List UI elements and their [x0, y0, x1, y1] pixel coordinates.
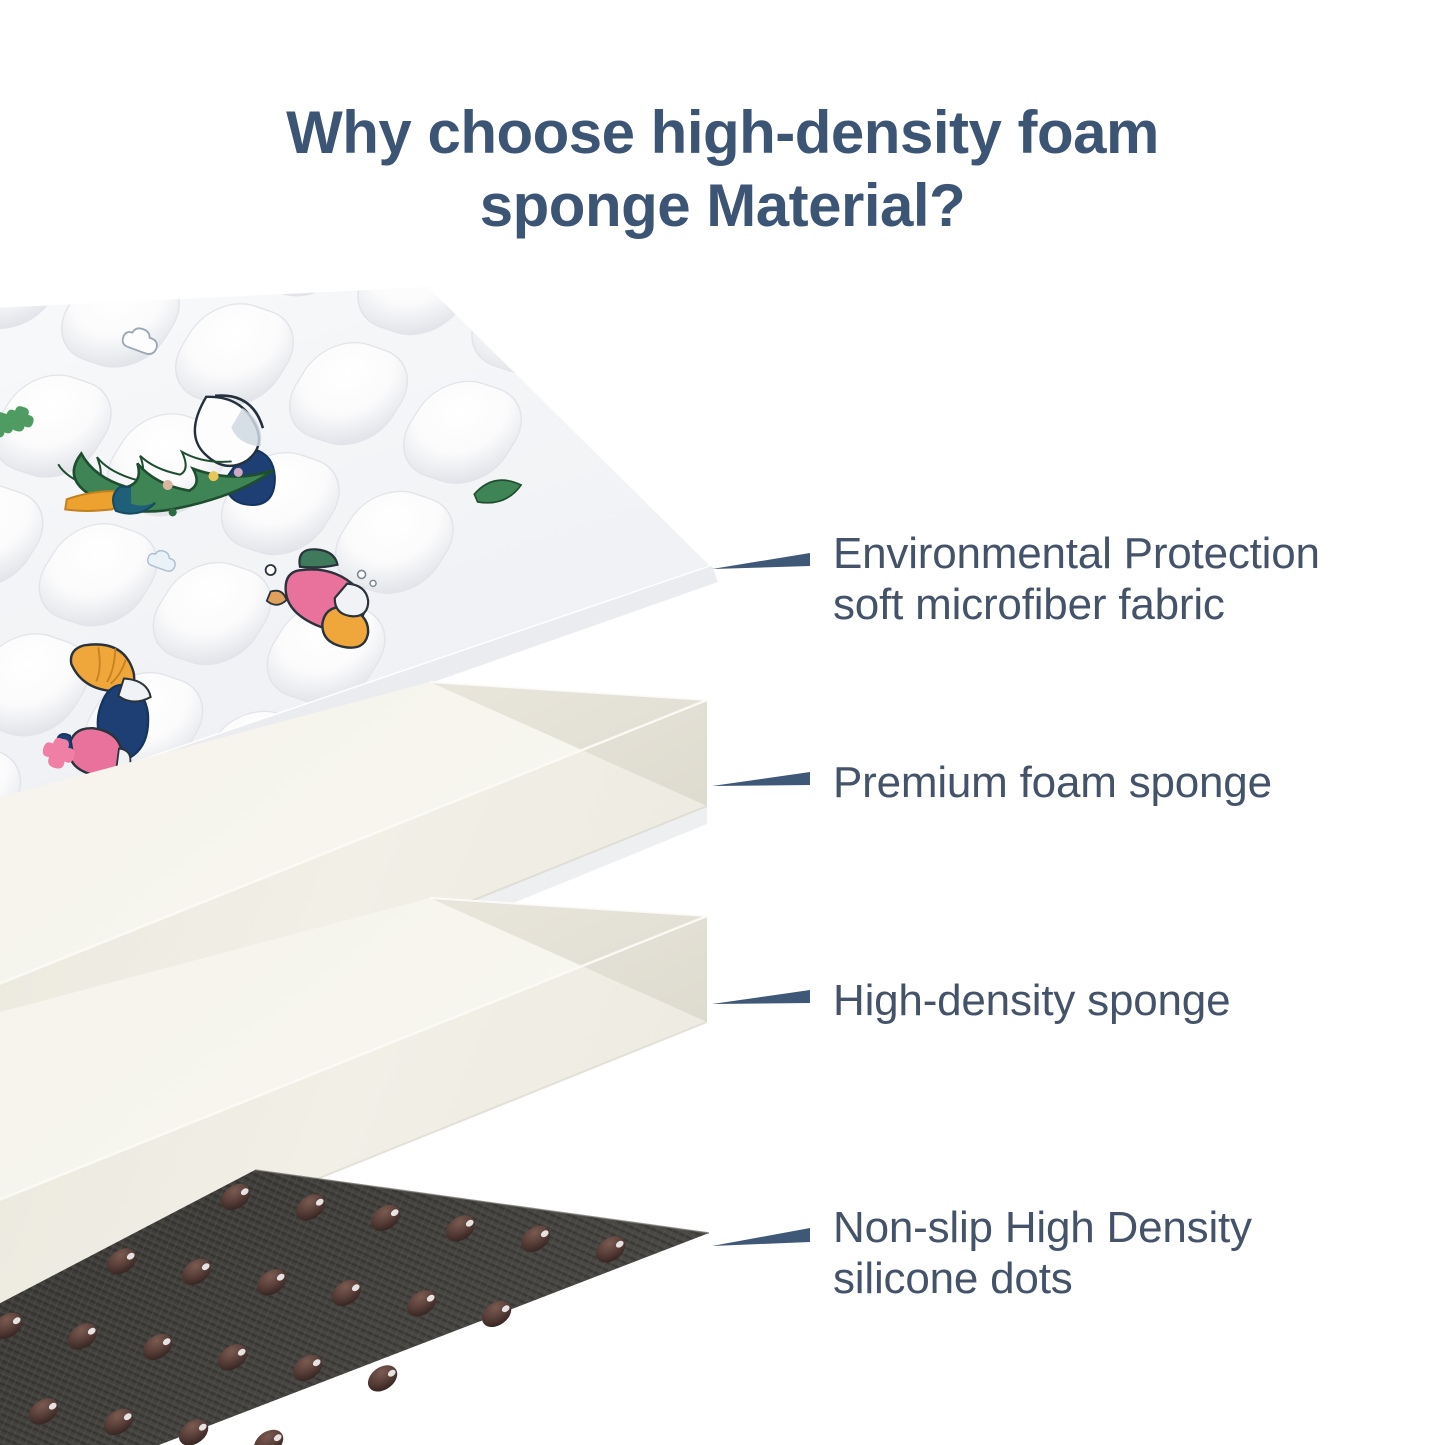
- callout-pointer-high-density-sponge: [712, 990, 810, 1004]
- callout-label-high-density-sponge: High-density sponge: [833, 975, 1230, 1026]
- callout-label-silicone-dots: Non-slip High Density silicone dots: [833, 1202, 1252, 1304]
- callout-label-premium-foam-sponge: Premium foam sponge: [833, 757, 1272, 808]
- callout-pointer-premium-foam-sponge: [712, 772, 810, 786]
- callout-label-microfiber-fabric: Environmental Protection soft microfiber…: [833, 528, 1320, 630]
- callout-pointer-microfiber-fabric: [712, 553, 810, 569]
- infographic-canvas: Why choose high-density foam sponge Mate…: [0, 0, 1445, 1445]
- callout-pointer-silicone-dots: [712, 1228, 810, 1246]
